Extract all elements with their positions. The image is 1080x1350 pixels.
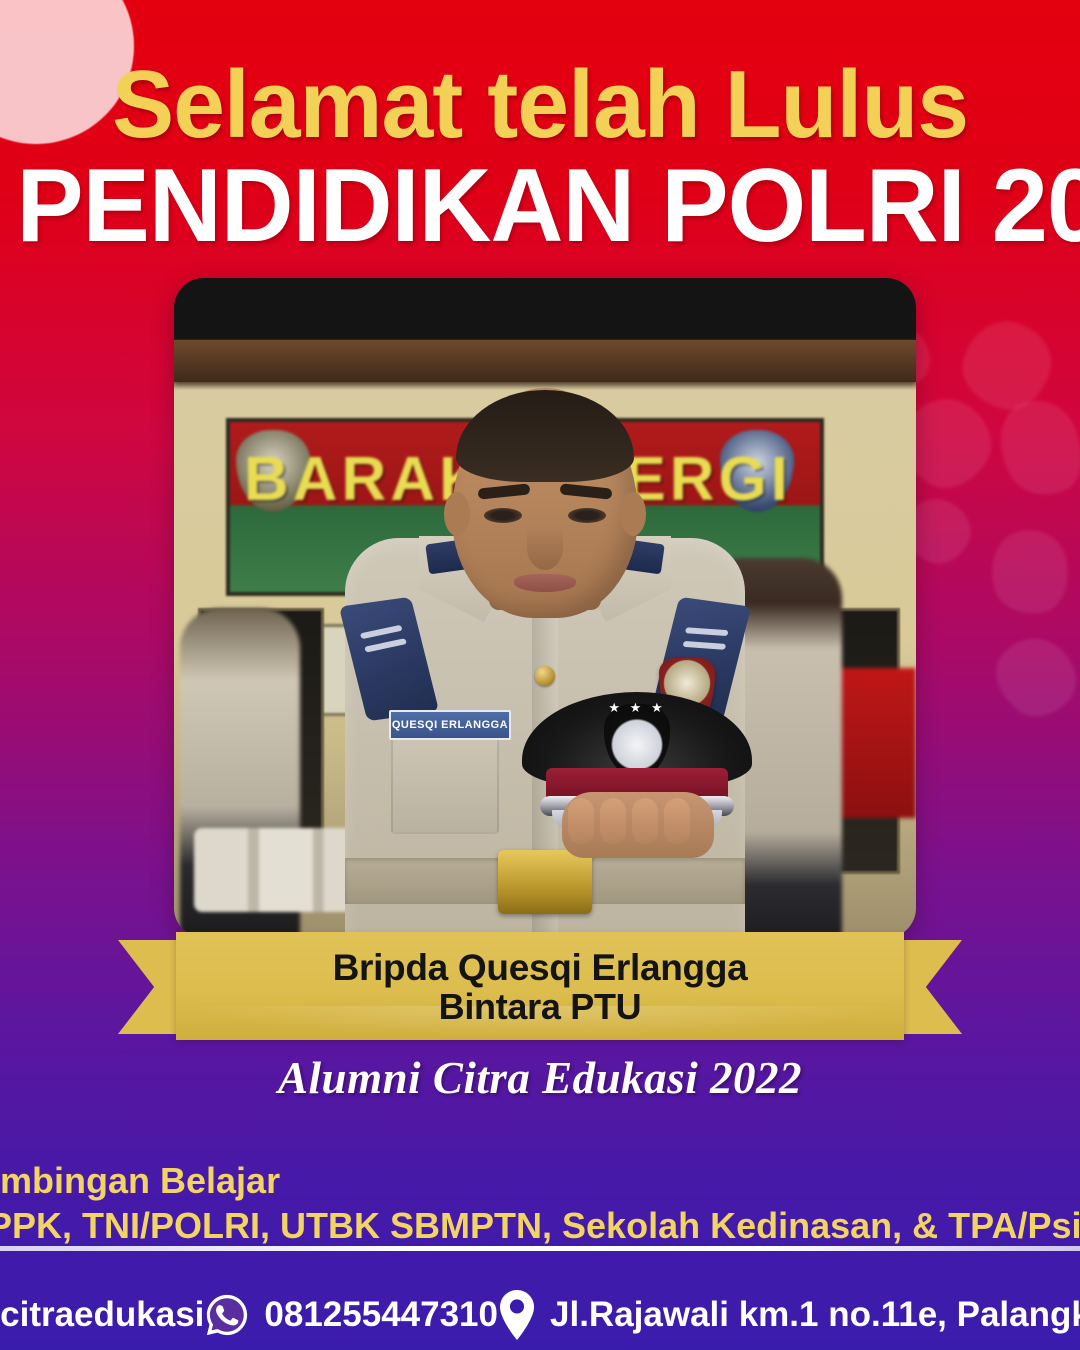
- ear-right: [620, 492, 646, 536]
- chest-pocket-left: [391, 734, 499, 834]
- uniform-nametag: QUESQI ERLANGGA: [389, 710, 511, 740]
- contact-instagram[interactable]: @citraedukasi: [0, 1295, 204, 1335]
- footer-divider: [0, 1246, 1080, 1251]
- headline-line-1: Selamat telah Lulus: [16, 58, 1064, 152]
- graduate-photo: BARAK SINERGI: [174, 278, 916, 938]
- contact-address[interactable]: Jl.Rajawali km.1 no.11e, Palangkaraya: [498, 1290, 1080, 1340]
- photo-scene: BARAK SINERGI: [174, 278, 916, 938]
- contact-row: @citraedukasi 081255447310 Jl.Rajawali k…: [0, 1288, 1080, 1342]
- footer-line-1: Bimbingan Belajar: [0, 1160, 1080, 1202]
- graduate-name: Bripda Quesqi Erlangga: [333, 949, 748, 988]
- hair: [456, 390, 634, 482]
- ribbon-text-block: Bripda Quesqi Erlangga Bintara PTU: [118, 932, 962, 1042]
- petal-shape: [985, 524, 1074, 620]
- eyebrow-left: [478, 483, 531, 499]
- petal-shape: [953, 311, 1061, 419]
- roof-beam: [174, 340, 916, 382]
- eye-left: [484, 508, 522, 523]
- footer-program-block: Bimbingan Belajar PPPK, TNI/POLRI, UTBK …: [0, 1160, 1080, 1247]
- location-pin-icon: [498, 1290, 536, 1340]
- finger: [568, 798, 594, 844]
- police-peaked-cap: ★ ★ ★: [522, 692, 752, 842]
- hand-holding-cap: [562, 792, 714, 858]
- finger: [632, 798, 658, 844]
- eyebrow-right: [560, 483, 613, 499]
- police-officer-figure: QUESQI ERLANGGA: [310, 378, 780, 938]
- eye-right: [568, 508, 606, 523]
- graduate-title: Bintara PTU: [439, 988, 642, 1026]
- petal-shape: [982, 623, 1080, 731]
- finger: [600, 798, 626, 844]
- headline-block: Selamat telah Lulus PENDIDIKAN POLRI 202…: [0, 58, 1080, 258]
- shirt-button: [535, 666, 555, 686]
- whatsapp-number: 081255447310: [264, 1295, 498, 1335]
- instagram-handle: @citraedukasi: [0, 1295, 204, 1335]
- contact-whatsapp[interactable]: 081255447310: [204, 1292, 498, 1338]
- epaulette-left: [339, 597, 439, 722]
- address-text: Jl.Rajawali km.1 no.11e, Palangkaraya: [550, 1295, 1080, 1335]
- nose: [527, 526, 563, 570]
- whatsapp-icon: [204, 1292, 250, 1338]
- mouth: [514, 574, 576, 592]
- head: [452, 388, 638, 618]
- finger: [664, 798, 690, 844]
- name-ribbon: Bripda Quesqi Erlangga Bintara PTU: [118, 932, 962, 1042]
- poster-canvas: Selamat telah Lulus PENDIDIKAN POLRI 202…: [0, 0, 1080, 1350]
- cap-stars: ★ ★ ★: [608, 700, 665, 716]
- footer-line-2: PPPK, TNI/POLRI, UTBK SBMPTN, Sekolah Ke…: [0, 1205, 1080, 1247]
- petal-shape: [987, 389, 1080, 507]
- ear-left: [444, 492, 470, 536]
- headline-line-2: PENDIDIKAN POLRI 2022: [16, 156, 1064, 258]
- belt-buckle: [498, 850, 592, 914]
- alumni-line: Alumni Citra Edukasi 2022: [0, 1052, 1080, 1104]
